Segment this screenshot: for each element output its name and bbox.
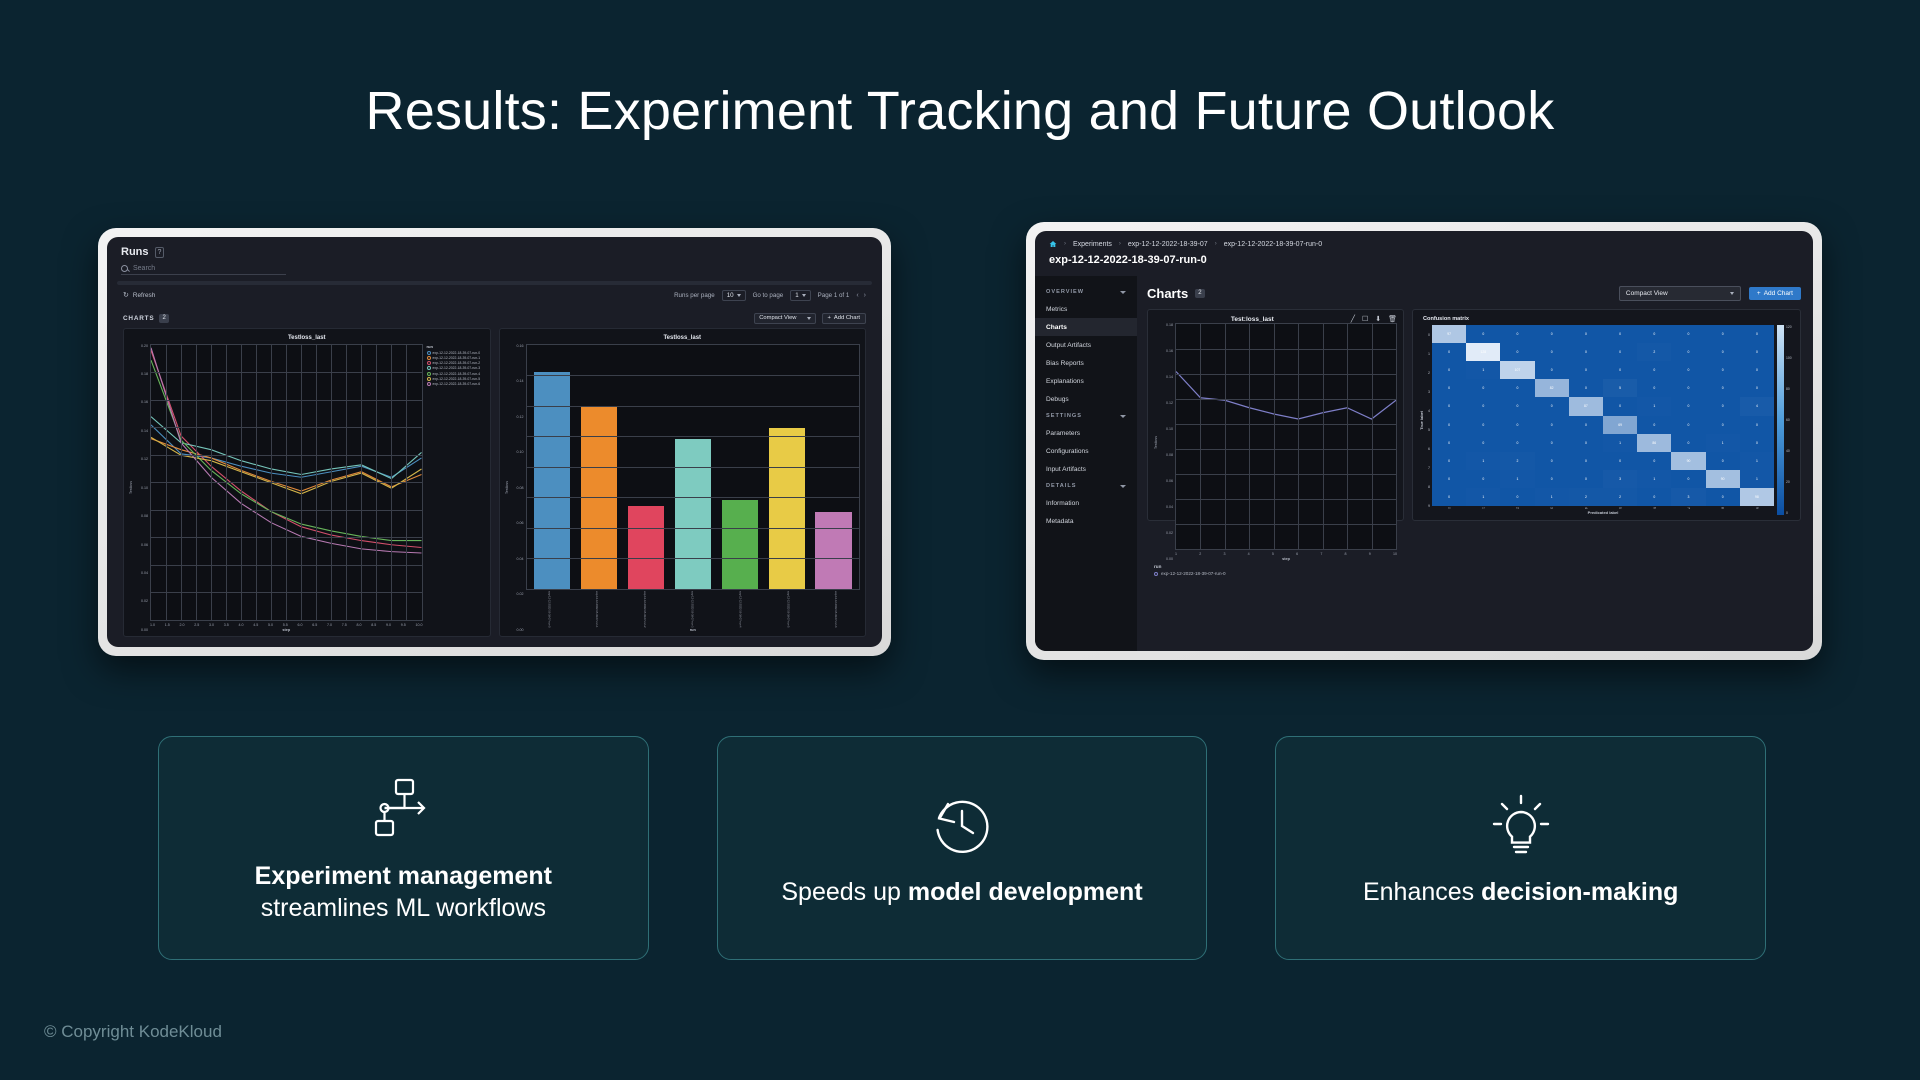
add-chart-button[interactable]: + Add Chart bbox=[1749, 287, 1801, 300]
y-axis-ticks: 0.200.180.160.140.120.100.080.060.040.02… bbox=[133, 344, 150, 633]
heatmap-cell: 0 bbox=[1432, 343, 1466, 361]
x-tick: 6 bbox=[1296, 552, 1298, 556]
sidebar-item-charts[interactable]: Charts bbox=[1035, 318, 1137, 336]
x-tick: 10 bbox=[1393, 552, 1397, 556]
confusion-matrix-card[interactable]: Confusion matrix True label 0123456789 9… bbox=[1412, 309, 1801, 521]
heatmap-cell: 0 bbox=[1500, 397, 1534, 415]
heatmap-cell: 0 bbox=[1432, 470, 1466, 488]
heatmap-cell: 90 bbox=[1671, 452, 1705, 470]
x-tick: exp-12-12-2022-18-39-07-run-0 bbox=[547, 591, 551, 627]
sidebar-item-bias-reports[interactable]: Bias Reports bbox=[1035, 354, 1137, 372]
y-tick: 0.04 bbox=[141, 571, 148, 575]
y-tick: 0.10 bbox=[1166, 427, 1173, 431]
sidebar-group-label: SETTINGS bbox=[1046, 413, 1082, 419]
charts-section-header: CHARTS 2 Compact View + Add Chart bbox=[107, 307, 882, 328]
sidebar-item-information[interactable]: Information bbox=[1035, 494, 1137, 512]
colorbar-tick: 20 bbox=[1786, 480, 1792, 484]
heatmap-cell: 0 bbox=[1671, 325, 1705, 343]
heatmap-cell: 0 bbox=[1740, 416, 1774, 434]
x-tick: 4.5 bbox=[253, 623, 258, 627]
heatmap-cell: 0 bbox=[1535, 361, 1569, 379]
feature-card-pre: Enhances bbox=[1363, 878, 1481, 906]
breadcrumb-item-run[interactable]: exp-12-12-2022-18-39-07-run-0 bbox=[1224, 241, 1322, 248]
legend-item[interactable]: exp-12-12-2022-18-39-07-run-1 bbox=[427, 356, 485, 360]
heatmap-cell: 0 bbox=[1500, 488, 1534, 506]
line-series-svg bbox=[1176, 324, 1396, 549]
bar[interactable] bbox=[815, 512, 851, 588]
heatmap-cell: 0 bbox=[1706, 488, 1740, 506]
heatmap-cell: 1 bbox=[1740, 470, 1774, 488]
gridline bbox=[1225, 324, 1226, 549]
x-tick: 2 bbox=[1515, 507, 1519, 509]
charts-header: Charts 2 Compact View + Add Chart bbox=[1147, 286, 1801, 301]
x-tick: 9.0 bbox=[386, 623, 391, 627]
sidebar-item-input-artifacts[interactable]: Input Artifacts bbox=[1035, 460, 1137, 478]
page-status: Page 1 of 1 bbox=[818, 292, 850, 299]
heatmap-cell: 69 bbox=[1603, 416, 1637, 434]
bar[interactable] bbox=[675, 439, 711, 589]
breadcrumb-item-experiments[interactable]: Experiments bbox=[1073, 241, 1112, 248]
gridline bbox=[166, 345, 167, 621]
x-tick: 0 bbox=[1447, 507, 1451, 509]
x-tick: 5 bbox=[1272, 552, 1274, 556]
breadcrumb-item-experiment[interactable]: exp-12-12-2022-18-39-07 bbox=[1128, 241, 1208, 248]
heatmap-cell: 87 bbox=[1569, 397, 1603, 415]
x-tick: 8 bbox=[1721, 507, 1725, 509]
x-tick: 2.0 bbox=[180, 623, 185, 627]
heatmap-cell: 0 bbox=[1432, 379, 1466, 397]
gridline bbox=[527, 558, 860, 559]
heatmap-cell: 0 bbox=[1466, 379, 1500, 397]
y-axis-ticks: 0.160.140.120.100.080.060.040.020.00 bbox=[509, 344, 526, 633]
heatmap-cell: 0 bbox=[1671, 434, 1705, 452]
heatmap-cell: 0 bbox=[1535, 452, 1569, 470]
heatmap-cell: 90 bbox=[1706, 470, 1740, 488]
view-mode-select[interactable]: Compact View bbox=[754, 313, 815, 324]
heatmap-cell: 2 bbox=[1637, 343, 1671, 361]
x-tick: 8 bbox=[1345, 552, 1347, 556]
lightbulb-icon bbox=[1490, 788, 1552, 862]
heatmap-cell: 0 bbox=[1637, 416, 1671, 434]
sidebar-item-debugs[interactable]: Debugs bbox=[1035, 390, 1137, 408]
delete-icon[interactable]: 🗑 bbox=[1388, 315, 1397, 323]
gridline bbox=[331, 345, 332, 621]
x-tick: 3.5 bbox=[224, 623, 229, 627]
x-tick: 6.5 bbox=[312, 623, 317, 627]
legend-title: run bbox=[1154, 564, 1397, 569]
y-tick: 0.00 bbox=[141, 628, 148, 632]
colorbar-ticks: 120100806040200 bbox=[1784, 325, 1792, 515]
sidebar-item-configurations[interactable]: Configurations bbox=[1035, 442, 1137, 460]
y-tick: 6 bbox=[1424, 439, 1432, 458]
add-chart-label: Add Chart bbox=[1764, 290, 1793, 297]
legend-item[interactable]: exp-12-12-2022-18-39-07-run-0 bbox=[427, 351, 485, 355]
y-tick: 0.12 bbox=[141, 457, 148, 461]
y-tick: 0.18 bbox=[1166, 323, 1173, 327]
heatmap-cell: 0 bbox=[1569, 416, 1603, 434]
chevron-down-icon bbox=[1120, 485, 1126, 488]
heatmap-cell: 0 bbox=[1740, 343, 1774, 361]
heatmap-cell: 128 bbox=[1466, 343, 1500, 361]
heatmap-cell: 0 bbox=[1466, 470, 1500, 488]
x-tick: 4 bbox=[1584, 507, 1588, 509]
gridline bbox=[527, 436, 860, 437]
heatmap-cell: 0 bbox=[1706, 397, 1740, 415]
heatmap-cell: 1 bbox=[1466, 488, 1500, 506]
gridline bbox=[527, 406, 860, 407]
sidebar-item-metrics[interactable]: Metrics bbox=[1035, 300, 1137, 318]
x-tick: 4.0 bbox=[239, 623, 244, 627]
go-to-page-select[interactable]: 1 bbox=[790, 290, 810, 301]
heatmap-cell: 0 bbox=[1466, 434, 1500, 452]
gridline bbox=[241, 345, 242, 621]
runs-title: Runs bbox=[121, 246, 149, 258]
x-tick: 8.0 bbox=[357, 623, 362, 627]
legend-label: exp-12-12-2022-18-39-07-run-3 bbox=[433, 366, 481, 370]
runs-per-page-select[interactable]: 10 bbox=[722, 290, 746, 301]
x-tick: 9.5 bbox=[401, 623, 406, 627]
heatmap-cell: 4 bbox=[1740, 397, 1774, 415]
heatmap-cell: 2 bbox=[1603, 488, 1637, 506]
refresh-icon: ↻ bbox=[123, 291, 129, 299]
heatmap-cell: 1 bbox=[1603, 434, 1637, 452]
x-tick: 6.0 bbox=[298, 623, 303, 627]
runs-per-page-value: 10 bbox=[727, 292, 734, 299]
legend-swatch bbox=[427, 382, 431, 386]
heatmap-cell: 0 bbox=[1535, 470, 1569, 488]
x-tick: 7 bbox=[1686, 507, 1690, 509]
gridline bbox=[256, 345, 257, 621]
expand-icon[interactable]: ☐ bbox=[1362, 315, 1368, 323]
go-to-page-value: 1 bbox=[795, 292, 798, 299]
x-tick: 10.0 bbox=[416, 623, 423, 627]
feature-card-model-development[interactable]: Speeds up model development bbox=[717, 736, 1208, 960]
heatmap-cell: 3 bbox=[1671, 488, 1705, 506]
legend-label: exp-12-12-2022-18-39-07-run-1 bbox=[433, 356, 481, 360]
charts-count-badge: 2 bbox=[1195, 289, 1204, 298]
y-axis-ticks: 0123456789 bbox=[1424, 325, 1432, 515]
gridline bbox=[1200, 324, 1201, 549]
y-tick: 0.08 bbox=[517, 486, 524, 490]
colorbar: 120100806040200 bbox=[1774, 325, 1794, 515]
heatmap-cell: 0 bbox=[1466, 397, 1500, 415]
download-icon[interactable]: ⬇ bbox=[1375, 315, 1381, 323]
gridline bbox=[1347, 324, 1348, 549]
gridline bbox=[527, 528, 860, 529]
y-tick: 0.14 bbox=[1166, 375, 1173, 379]
legend-item[interactable]: exp-12-12-2022-18-39-07-run-2 bbox=[427, 361, 485, 365]
legend-swatch bbox=[427, 356, 431, 360]
line-chart-card[interactable]: Testloss_last Testloss 0.200.180.160.140… bbox=[123, 328, 491, 638]
x-axis-ticks: 0123456789 bbox=[1432, 506, 1774, 509]
heatmap-cell: 0 bbox=[1500, 434, 1534, 452]
x-tick: 7 bbox=[1320, 552, 1322, 556]
legend-item: exp-12-12-2022-18-39-07-run-0 bbox=[1154, 571, 1397, 576]
x-axis-ticks: exp-12-12-2022-18-39-07-run-0exp-12-12-2… bbox=[526, 590, 861, 627]
y-tick: 0.10 bbox=[141, 486, 148, 490]
bar[interactable] bbox=[769, 428, 805, 588]
x-tick: 1.0 bbox=[150, 623, 155, 627]
y-tick: 0.12 bbox=[1166, 401, 1173, 405]
chart-title: Test:loss_last bbox=[1154, 316, 1351, 323]
bar-chart-card[interactable]: Testloss_last Testloss 0.160.140.120.100… bbox=[499, 328, 867, 638]
y-tick: 0 bbox=[1424, 325, 1432, 344]
workflow-icon bbox=[368, 772, 438, 846]
heatmap-cell: 0 bbox=[1432, 452, 1466, 470]
sidebar-group-overview[interactable]: OVERVIEW bbox=[1035, 284, 1137, 300]
gridline bbox=[1323, 324, 1324, 549]
heatmap-cell: 0 bbox=[1569, 470, 1603, 488]
x-tick: 3.0 bbox=[209, 623, 214, 627]
heatmap-cell: 0 bbox=[1671, 379, 1705, 397]
help-icon[interactable]: ? bbox=[155, 247, 165, 258]
sidebar-group-label: OVERVIEW bbox=[1046, 289, 1084, 295]
heatmap-cell: 0 bbox=[1466, 416, 1500, 434]
next-page-icon[interactable]: › bbox=[864, 292, 866, 299]
bar[interactable] bbox=[628, 506, 664, 588]
legend-label: exp-12-12-2022-18-39-07-run-4 bbox=[433, 372, 481, 376]
x-tick: 9 bbox=[1755, 507, 1759, 509]
y-tick: 2 bbox=[1424, 363, 1432, 382]
heatmap-cell: 0 bbox=[1637, 325, 1671, 343]
heatmap-cell: 0 bbox=[1671, 416, 1705, 434]
y-tick: 0.16 bbox=[141, 400, 148, 404]
heatmap-cell: 1 bbox=[1500, 470, 1534, 488]
x-tick: exp-12-12-2022-18-39-07-run-1 bbox=[595, 591, 599, 627]
gridline bbox=[1176, 374, 1396, 375]
search-placeholder: Search bbox=[133, 265, 155, 272]
view-mode-select[interactable]: Compact View bbox=[1619, 286, 1741, 301]
legend-item[interactable]: exp-12-12-2022-18-39-07-run-6 bbox=[427, 382, 485, 386]
heatmap-cell: 0 bbox=[1671, 343, 1705, 361]
gridline bbox=[1176, 474, 1396, 475]
x-tick: 4 bbox=[1248, 552, 1250, 556]
x-tick: 1 bbox=[1481, 507, 1485, 509]
heatmap-cell: 0 bbox=[1603, 343, 1637, 361]
gridline bbox=[271, 345, 272, 621]
y-tick: 0.16 bbox=[517, 344, 524, 348]
heatmap-cell: 98 bbox=[1740, 488, 1774, 506]
legend: run exp-12-12-2022-18-39-07-run-0 bbox=[1154, 561, 1397, 576]
y-tick: 0.06 bbox=[517, 521, 524, 525]
heatmap-cell: 0 bbox=[1432, 488, 1466, 506]
copyright: © Copyright KodeKloud bbox=[44, 1022, 222, 1042]
x-tick: exp-12-12-2022-18-39-07-run-5 bbox=[786, 591, 790, 627]
chevron-down-icon bbox=[1120, 415, 1126, 418]
x-tick: 7.5 bbox=[342, 623, 347, 627]
heatmap-cell: 0 bbox=[1603, 361, 1637, 379]
x-tick: 3 bbox=[1550, 507, 1554, 509]
line-series bbox=[1176, 371, 1396, 418]
x-tick: 1 bbox=[1175, 552, 1177, 556]
legend-item[interactable]: exp-12-12-2022-18-39-07-run-3 bbox=[427, 366, 485, 370]
y-tick: 0.06 bbox=[141, 543, 148, 547]
sidebar: OVERVIEWMetricsChartsOutput ArtifactsBia… bbox=[1035, 276, 1137, 651]
x-tick: 5.0 bbox=[268, 623, 273, 627]
heatmap-cell: 0 bbox=[1706, 325, 1740, 343]
gridline bbox=[346, 345, 347, 621]
heatmap-cell: 0 bbox=[1569, 325, 1603, 343]
sidebar-item-explanations[interactable]: Explanations bbox=[1035, 372, 1137, 390]
breadcrumb: › Experiments › exp-12-12-2022-18-39-07 … bbox=[1035, 231, 1813, 251]
legend-label: exp-12-12-2022-18-39-07-run-0 bbox=[433, 351, 481, 355]
refresh-label: Refresh bbox=[133, 292, 155, 299]
gridline bbox=[1176, 524, 1396, 525]
x-tick: 3 bbox=[1223, 552, 1225, 556]
heatmap-cell: 0 bbox=[1671, 361, 1705, 379]
sidebar-item-metadata[interactable]: Metadata bbox=[1035, 512, 1137, 530]
sidebar-item-output-artifacts[interactable]: Output Artifacts bbox=[1035, 336, 1137, 354]
y-tick: 0.20 bbox=[141, 344, 148, 348]
gridline bbox=[181, 345, 182, 621]
bar[interactable] bbox=[534, 372, 570, 589]
heatmap-cell: 0 bbox=[1706, 416, 1740, 434]
search-input[interactable]: Search bbox=[121, 265, 286, 275]
legend-swatch bbox=[427, 366, 431, 370]
heatmap-cell: 0 bbox=[1466, 325, 1500, 343]
runs-footer: ↻ Refresh Runs per page 10 Go to page 1 … bbox=[107, 285, 882, 307]
legend-label: exp-12-12-2022-18-39-07-run-6 bbox=[433, 382, 481, 386]
page-title: Results: Experiment Tracking and Future … bbox=[0, 80, 1920, 142]
page-arrows[interactable]: ‹ › bbox=[856, 292, 866, 299]
y-axis-label: Testloss bbox=[129, 481, 133, 494]
y-tick: 0.04 bbox=[1166, 505, 1173, 509]
heatmap-cell: 1 bbox=[1466, 452, 1500, 470]
heatmap-cell: 0 bbox=[1740, 434, 1774, 452]
y-tick: 4 bbox=[1424, 401, 1432, 420]
heatmap-cell: 0 bbox=[1603, 325, 1637, 343]
heatmap-cell: 0 bbox=[1535, 325, 1569, 343]
charts-label: CHARTS bbox=[123, 315, 154, 322]
y-axis-label: True label bbox=[1419, 411, 1424, 430]
y-tick: 5 bbox=[1424, 420, 1432, 439]
x-tick: 7.0 bbox=[327, 623, 332, 627]
heatmap-cell: 0 bbox=[1603, 452, 1637, 470]
feature-card-text: Speeds up model development bbox=[781, 876, 1142, 909]
heatmap-cell: 1 bbox=[1466, 361, 1500, 379]
legend: run exp-12-12-2022-18-39-07-run-0exp-12-… bbox=[423, 344, 485, 633]
gridline bbox=[527, 497, 860, 498]
heatmap-cell: 3 bbox=[1603, 470, 1637, 488]
heatmap-cell: 0 bbox=[1535, 343, 1569, 361]
charts-count-badge: 2 bbox=[159, 314, 168, 323]
x-axis-label: run bbox=[526, 628, 861, 632]
home-icon[interactable] bbox=[1049, 240, 1057, 248]
bar[interactable] bbox=[722, 500, 758, 588]
run-title: exp-12-12-2022-18-39-07-run-0 bbox=[1035, 251, 1813, 276]
heatmap-cell: 0 bbox=[1740, 361, 1774, 379]
feature-card-experiment-management[interactable]: Experiment management streamlines ML wor… bbox=[158, 736, 649, 960]
refresh-button[interactable]: ↻ Refresh bbox=[123, 291, 155, 299]
test-loss-chart-card[interactable]: Test:loss_last ╱ ☐ ⬇ 🗑 Testloss 0.180.16… bbox=[1147, 309, 1404, 521]
y-axis-label: Testloss bbox=[505, 481, 509, 494]
clock-rewind-icon bbox=[929, 788, 995, 862]
colorbar-tick: 100 bbox=[1786, 356, 1792, 360]
gridline bbox=[1249, 324, 1250, 549]
feature-cards: Experiment management streamlines ML wor… bbox=[158, 736, 1766, 960]
add-chart-button[interactable]: + Add Chart bbox=[822, 313, 867, 324]
y-tick: 0.08 bbox=[1166, 453, 1173, 457]
x-tick: 1.5 bbox=[165, 623, 170, 627]
heatmap-cell: 1 bbox=[1740, 452, 1774, 470]
heatmap-grid: 9700000000001280000200001107000000000082… bbox=[1432, 325, 1774, 506]
gridline bbox=[226, 345, 227, 621]
colorbar-tick: 40 bbox=[1786, 449, 1792, 453]
y-axis-ticks: 0.180.160.140.120.100.080.060.040.020.00 bbox=[1158, 323, 1175, 561]
feature-card-decision-making[interactable]: Enhances decision-making bbox=[1275, 736, 1766, 960]
legend-label: exp-12-12-2022-18-39-07-run-0 bbox=[1161, 571, 1226, 576]
y-tick: 0.16 bbox=[1166, 349, 1173, 353]
plot-area bbox=[526, 344, 861, 590]
heatmap-cell: 0 bbox=[1637, 361, 1671, 379]
heatmap-cell: 0 bbox=[1535, 434, 1569, 452]
runs-header: Runs ? bbox=[107, 237, 882, 262]
breadcrumb-sep: › bbox=[1119, 241, 1121, 247]
gridline bbox=[527, 375, 860, 376]
heatmap-cell: 0 bbox=[1637, 379, 1671, 397]
heatmap-cell: 0 bbox=[1603, 397, 1637, 415]
sidebar-group-settings[interactable]: SETTINGS bbox=[1035, 408, 1137, 424]
go-to-page-label: Go to page bbox=[753, 292, 784, 299]
breadcrumb-sep: › bbox=[1215, 241, 1217, 247]
edit-icon[interactable]: ╱ bbox=[1351, 315, 1355, 323]
plus-icon: + bbox=[828, 315, 831, 321]
legend-item[interactable]: exp-12-12-2022-18-39-07-run-5 bbox=[427, 377, 485, 381]
y-tick: 9 bbox=[1424, 496, 1432, 515]
x-tick: 5.5 bbox=[283, 623, 288, 627]
heatmap-cell: 107 bbox=[1500, 361, 1534, 379]
chart-card-header: Test:loss_last ╱ ☐ ⬇ 🗑 bbox=[1154, 315, 1397, 323]
legend-item[interactable]: exp-12-12-2022-18-39-07-run-4 bbox=[427, 372, 485, 376]
heatmap-cell: 0 bbox=[1569, 343, 1603, 361]
heatmap-cell: 0 bbox=[1740, 379, 1774, 397]
y-tick: 1 bbox=[1424, 344, 1432, 363]
heatmap-cell: 0 bbox=[1535, 416, 1569, 434]
heatmap-cell: 1 bbox=[1637, 397, 1671, 415]
heatmap-cell: 0 bbox=[1432, 397, 1466, 415]
x-tick: exp-12-12-2022-18-39-07-run-4 bbox=[739, 591, 743, 627]
view-mode-value: Compact View bbox=[1626, 290, 1668, 297]
legend-swatch bbox=[1154, 572, 1158, 576]
main-content: Charts 2 Compact View + Add Chart bbox=[1137, 276, 1813, 651]
gridline bbox=[1298, 324, 1299, 549]
screenshot-frame-runs: Runs ? Search NameIdRun GroupTypeTestlos… bbox=[98, 228, 891, 656]
plot-area bbox=[1175, 323, 1397, 550]
pagination: Runs per page 10 Go to page 1 Page 1 of … bbox=[674, 290, 866, 301]
gridline bbox=[286, 345, 287, 621]
x-tick: 8.5 bbox=[371, 623, 376, 627]
gridline bbox=[316, 345, 317, 621]
heatmap-cell: 0 bbox=[1500, 416, 1534, 434]
heatmap-cell: 0 bbox=[1706, 361, 1740, 379]
chart-title: Testloss_last bbox=[505, 335, 861, 341]
sidebar-group-details[interactable]: DETAILS bbox=[1035, 478, 1137, 494]
sidebar-item-parameters[interactable]: Parameters bbox=[1035, 424, 1137, 442]
gridline bbox=[211, 345, 212, 621]
gridline bbox=[1176, 399, 1396, 400]
x-tick: exp-12-12-2022-18-39-07-run-6 bbox=[834, 591, 838, 627]
y-axis-label: Testloss bbox=[1154, 436, 1158, 449]
heatmap-cell: 1 bbox=[1637, 470, 1671, 488]
heatmap-cell: 0 bbox=[1706, 452, 1740, 470]
prev-page-icon[interactable]: ‹ bbox=[856, 292, 858, 299]
y-tick: 0.08 bbox=[141, 514, 148, 518]
charts-title: Charts bbox=[1147, 286, 1188, 301]
heatmap-cell: 0 bbox=[1500, 325, 1534, 343]
chart-title: Confusion matrix bbox=[1419, 315, 1794, 325]
gridline bbox=[406, 345, 407, 621]
gridline bbox=[196, 345, 197, 621]
